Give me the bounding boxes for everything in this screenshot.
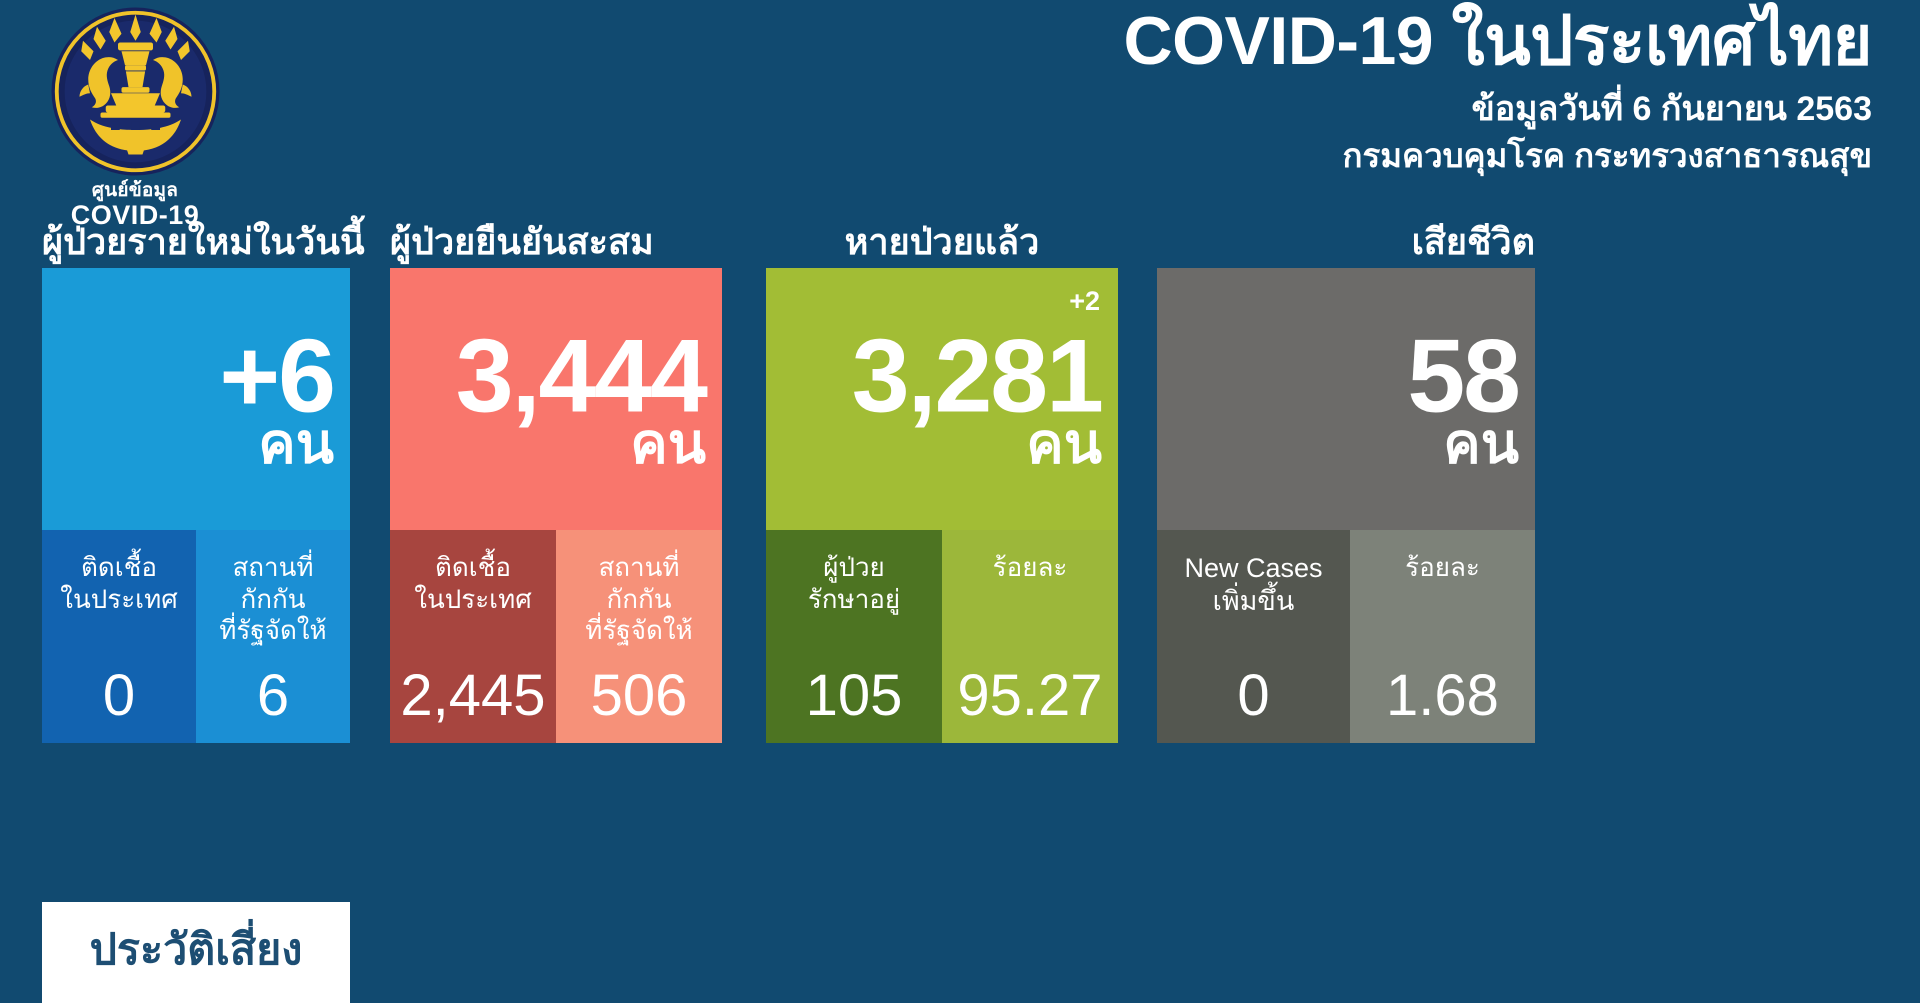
title-block: COVID-19 ในประเทศไทย ข้อมูลวันที่ 6 กันย… xyxy=(1123,6,1872,174)
subcell-label-line2: รักษาอยู่ xyxy=(808,584,900,616)
card-subcells-recovered: ผู้ป่วย รักษาอยู่ 105 ร้อยละ 95.27 xyxy=(766,530,1118,743)
card-body-recovered: +2 3,281 คน xyxy=(766,268,1118,530)
subcell-value: 506 xyxy=(556,667,722,725)
subcell-new-cases-increase: New Cases เพิ่มขึ้น 0 xyxy=(1157,530,1350,743)
card-title-deaths: เสียชีวิต xyxy=(1157,222,1535,268)
subcell-label-line1: ร้อยละ xyxy=(1405,552,1480,584)
card-subcells-deaths: New Cases เพิ่มขึ้น 0 ร้อยละ 1.68 xyxy=(1157,530,1535,743)
subcell-label-line2: เพิ่มขึ้น xyxy=(1184,585,1322,618)
card-body-cumulative-confirmed: 3,444 คน xyxy=(390,268,722,530)
subcell-label-line3: ที่รัฐจัดให้ xyxy=(219,615,326,647)
subcell-currently-treated: ผู้ป่วย รักษาอยู่ 105 xyxy=(766,530,942,743)
subcell-value: 6 xyxy=(196,667,350,725)
subcell-label-line1: สถานที่ xyxy=(585,552,692,584)
report-source-org: กรมควบคุมโรค กระทรวงสาธารณสุข xyxy=(1123,138,1872,174)
subcell-label-line1: New Cases xyxy=(1184,552,1322,585)
subcell-label-line3: ที่รัฐจัดให้ xyxy=(585,615,692,647)
subcell-label: ติดเชื้อ ในประเทศ xyxy=(60,552,177,615)
subcell-label-line1: สถานที่ xyxy=(219,552,326,584)
subcell-value: 95.27 xyxy=(942,667,1118,725)
subcell-value: 2,445 xyxy=(390,667,556,725)
subcell-label: ผู้ป่วย รักษาอยู่ xyxy=(808,552,900,615)
subcell-label: สถานที่ กักกัน ที่รัฐจัดให้ xyxy=(585,552,692,647)
subcell-label: สถานที่ กักกัน ที่รัฐจัดให้ xyxy=(219,552,326,647)
stat-card-recovered: หายป่วยแล้ว +2 3,281 คน ผู้ป่วย รักษาอยู… xyxy=(766,268,1118,530)
stat-card-new-cases: ผู้ป่วยรายใหม่ในวันนี้ +6 คน ติดเชื้อ ใน… xyxy=(42,268,350,530)
stat-card-grid: ผู้ป่วยรายใหม่ในวันนี้ +6 คน ติดเชื้อ ใน… xyxy=(0,268,1920,868)
subcell-value: 0 xyxy=(1157,667,1350,725)
card-body-deaths: 58 คน xyxy=(1157,268,1535,530)
card-title-cumulative-confirmed: ผู้ป่วยยืนยันสะสม xyxy=(390,222,722,268)
report-date: ข้อมูลวันที่ 6 กันยายน 2563 xyxy=(1123,91,1872,128)
page-header: ศูนย์ข้อมูล COVID-19 COVID-19 ในประเทศไท… xyxy=(0,0,1920,240)
card-value-block: 58 คน xyxy=(1407,329,1519,468)
card-title-new-cases: ผู้ป่วยรายใหม่ในวันนี้ xyxy=(42,222,350,268)
page-title: COVID-19 ในประเทศไทย xyxy=(1123,6,1872,77)
subcell-state-quarantine: สถานที่ กักกัน ที่รัฐจัดให้ 506 xyxy=(556,530,722,743)
subcell-value: 1.68 xyxy=(1350,667,1535,725)
emblem-block: ศูนย์ข้อมูล COVID-19 xyxy=(30,4,240,229)
subcell-percentage: ร้อยละ 95.27 xyxy=(942,530,1118,743)
subcell-value: 0 xyxy=(42,667,196,725)
subcell-label-line2: ในประเทศ xyxy=(414,584,531,616)
stat-card-deaths: เสียชีวิต 58 คน New Cases เพิ่มขึ้น 0 ร้… xyxy=(1157,268,1535,530)
subcell-label: New Cases เพิ่มขึ้น xyxy=(1184,552,1322,618)
card-delta-badge-recovered: +2 xyxy=(1069,286,1100,317)
subcell-label-line1: ร้อยละ xyxy=(993,552,1068,584)
subcell-state-quarantine: สถานที่ กักกัน ที่รัฐจัดให้ 6 xyxy=(196,530,350,743)
subcell-label-line1: ผู้ป่วย xyxy=(808,552,900,584)
stat-card-cumulative-confirmed: ผู้ป่วยยืนยันสะสม 3,444 คน ติดเชื้อ ในปร… xyxy=(390,268,722,530)
subcell-domestic-infection: ติดเชื้อ ในประเทศ 2,445 xyxy=(390,530,556,743)
subcell-label: ติดเชื้อ ในประเทศ xyxy=(414,552,531,615)
subcell-label-line2: ในประเทศ xyxy=(60,584,177,616)
subcell-label-line2: กักกัน xyxy=(585,584,692,616)
card-value-block: +6 คน xyxy=(219,329,334,468)
subcell-label: ร้อยละ xyxy=(993,552,1068,584)
card-subcells-new-cases: ติดเชื้อ ในประเทศ 0 สถานที่ กักกัน ที่รั… xyxy=(42,530,350,743)
card-value-block: 3,281 คน xyxy=(852,329,1102,468)
subcell-label: ร้อยละ xyxy=(1405,552,1480,584)
card-title-recovered: หายป่วยแล้ว xyxy=(766,222,1118,268)
card-body-new-cases: +6 คน xyxy=(42,268,350,530)
subcell-label-line1: ติดเชื้อ xyxy=(60,552,177,584)
risk-history-tag-label: ประวัติเสี่ยง xyxy=(90,929,303,976)
subcell-label-line1: ติดเชื้อ xyxy=(414,552,531,584)
subcell-domestic-infection: ติดเชื้อ ในประเทศ 0 xyxy=(42,530,196,743)
card-subcells-cumulative-confirmed: ติดเชื้อ ในประเทศ 2,445 สถานที่ กักกัน ท… xyxy=(390,530,722,743)
emblem-caption-thai: ศูนย์ข้อมูล xyxy=(30,181,240,201)
card-value-block: 3,444 คน xyxy=(456,329,706,468)
thai-garuda-emblem-icon xyxy=(48,4,223,179)
subcell-label-line2: กักกัน xyxy=(219,584,326,616)
subcell-percentage: ร้อยละ 1.68 xyxy=(1350,530,1535,743)
subcell-value: 105 xyxy=(766,667,942,725)
risk-history-tag: ประวัติเสี่ยง xyxy=(42,902,350,1003)
